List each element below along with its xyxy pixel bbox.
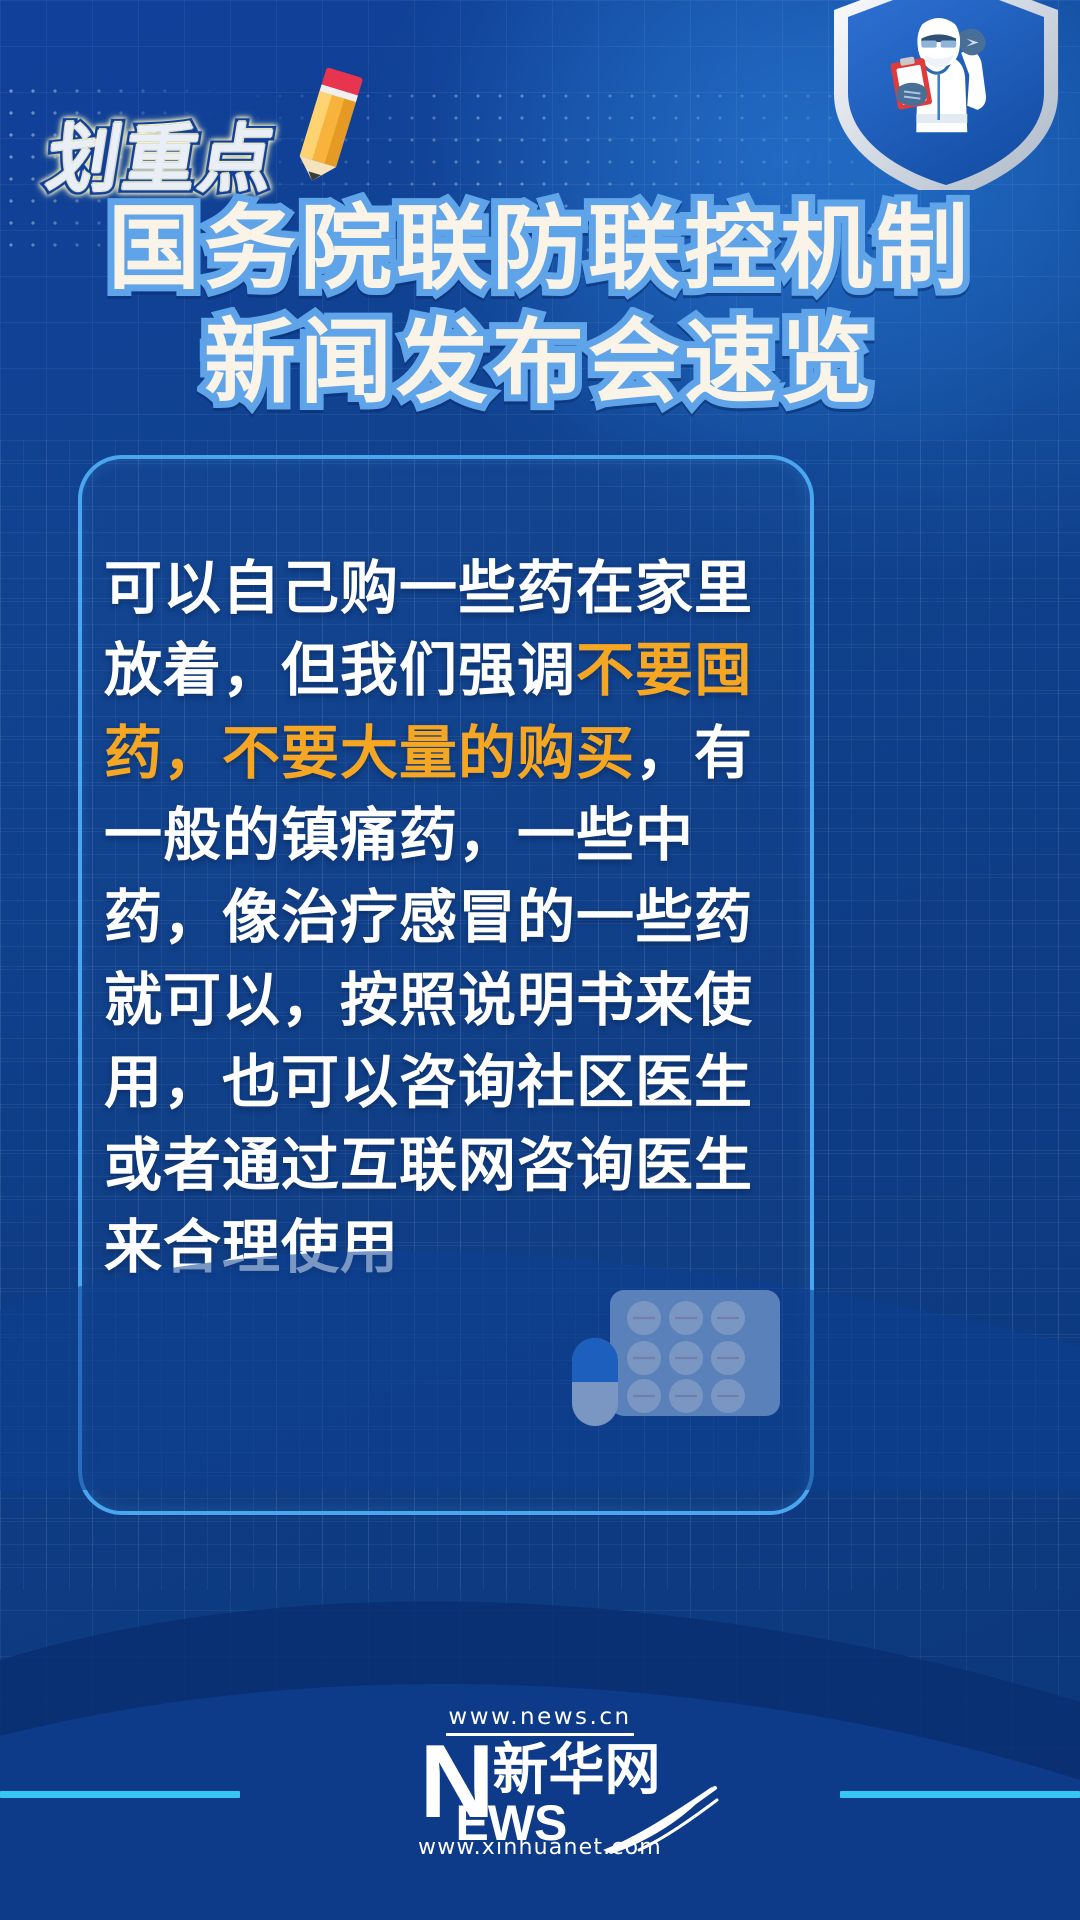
logo-swoosh-icon bbox=[601, 1784, 721, 1856]
quote-segment: ，有一般的镇痛药，一些中药，像治疗感冒的一些药就可以，按照说明书来使用，也可以咨… bbox=[104, 721, 753, 1280]
shield-badge bbox=[828, 0, 1064, 195]
pencil-icon bbox=[280, 62, 376, 188]
poster-root: 划重点 bbox=[0, 0, 1080, 1920]
xinhua-logo: N 新华网 EWS bbox=[419, 1740, 660, 1825]
logo-news-text: EWS bbox=[455, 1794, 566, 1852]
highlight-ribbon: 划重点 bbox=[48, 62, 376, 196]
title-line-2: 新闻发布会速览 bbox=[0, 310, 1080, 418]
quote-text: 可以自己购一些药在家里放着，但我们强调不要囤药，不要大量的购买，有一般的镇痛药，… bbox=[104, 548, 794, 1289]
footer-branding: www.news.cn N 新华网 EWS www.xinhuanet.com bbox=[0, 1704, 1080, 1860]
content-card-body: 可以自己购一些药在家里放着，但我们强调不要囤药，不要大量的购买，有一般的镇痛药，… bbox=[104, 548, 794, 1289]
page-title: 国务院联防联控机制 新闻发布会速览 bbox=[0, 196, 1080, 417]
ribbon-label: 划重点 bbox=[42, 123, 282, 196]
shield-medical-worker-icon bbox=[828, 0, 1064, 190]
title-line-1: 国务院联防联控机制 bbox=[0, 196, 1080, 304]
